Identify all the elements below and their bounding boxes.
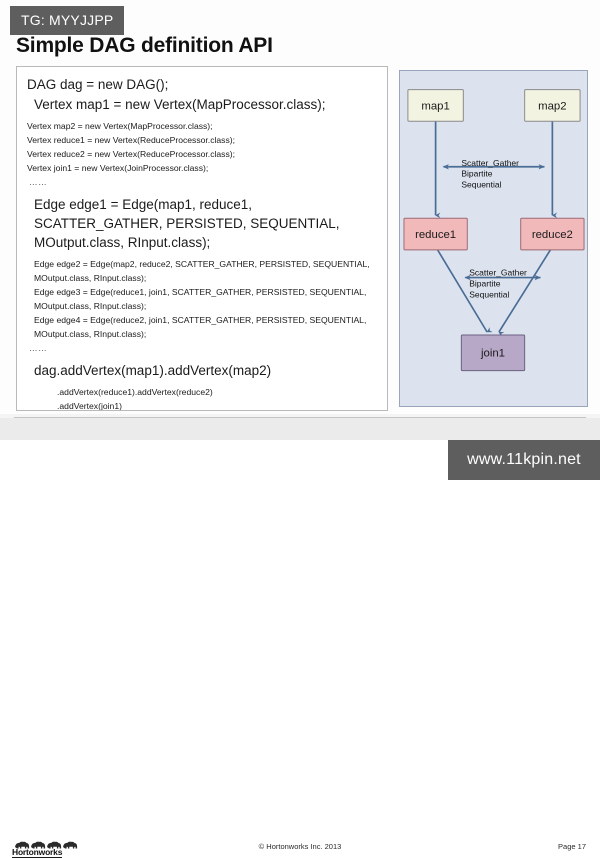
slide-footer: Hortonworks © Hortonworks Inc. 2013 Page… bbox=[0, 418, 600, 440]
edge-annotation-bottom: Scatter_Gather Bipartite Sequential bbox=[469, 268, 527, 300]
dag-node-reduce2[interactable]: reduce2 bbox=[521, 218, 584, 250]
code-panel: DAG dag = new DAG(); Vertex map1 = new V… bbox=[16, 66, 388, 411]
code-panel-body: DAG dag = new DAG(); Vertex map1 = new V… bbox=[17, 67, 387, 411]
code-line: Edge edge4 = Edge(reduce2, join1, SCATTE… bbox=[27, 314, 381, 342]
code-line: Vertex map1 = new Vertex(MapProcessor.cl… bbox=[27, 95, 381, 114]
dag-node-label: reduce2 bbox=[532, 229, 573, 241]
code-line: dag.addVertex(map1).addVertex(map2) bbox=[27, 361, 381, 380]
slide-surface: Simple DAG definition API DAG dag = new … bbox=[0, 0, 600, 440]
code-ellipsis: …… bbox=[27, 176, 381, 190]
edge-annotation-line: Sequential bbox=[461, 180, 501, 190]
page-number: Page 17 bbox=[558, 842, 586, 851]
code-line: Vertex reduce2 = new Vertex(ReduceProces… bbox=[27, 148, 381, 162]
dag-node-map1[interactable]: map1 bbox=[408, 90, 463, 122]
edge-annotation-line: Bipartite bbox=[469, 278, 500, 288]
code-line: Vertex join1 = new Vertex(JoinProcessor.… bbox=[27, 162, 381, 176]
copyright-text: © Hortonworks Inc. 2013 bbox=[0, 842, 600, 851]
code-line: .addVertex(reduce1).addVertex(reduce2) bbox=[27, 386, 381, 400]
code-line: .addVertex(join1) bbox=[27, 400, 381, 411]
dag-node-reduce1[interactable]: reduce1 bbox=[404, 218, 467, 250]
dag-node-label: join1 bbox=[480, 348, 505, 360]
dag-node-label: map2 bbox=[538, 100, 566, 112]
dag-node-label: map1 bbox=[421, 100, 449, 112]
code-line: Edge edge3 = Edge(reduce1, join1, SCATTE… bbox=[27, 286, 381, 314]
dag-diagram-svg: map1 map2 reduce1 reduce2 join1 bbox=[400, 71, 587, 406]
edge-annotation-line: Scatter_Gather bbox=[469, 268, 527, 278]
edge-annotation-top: Scatter_Gather Bipartite Sequential bbox=[461, 158, 519, 190]
watermark-url: www.11kpin.net bbox=[448, 440, 600, 480]
code-line: Vertex reduce1 = new Vertex(ReduceProces… bbox=[27, 134, 381, 148]
dag-node-join1[interactable]: join1 bbox=[461, 335, 524, 371]
code-ellipsis: …… bbox=[27, 342, 381, 356]
tg-badge: TG: MYYJJPP bbox=[10, 6, 124, 35]
code-line: Edge edge1 = Edge(map1, reduce1, SCATTER… bbox=[27, 195, 381, 252]
dag-diagram-panel: map1 map2 reduce1 reduce2 join1 bbox=[399, 70, 588, 407]
code-line: Vertex map2 = new Vertex(MapProcessor.cl… bbox=[27, 120, 381, 134]
dag-node-map2[interactable]: map2 bbox=[525, 90, 580, 122]
edge-annotation-line: Bipartite bbox=[461, 169, 492, 179]
edge-annotation-line: Sequential bbox=[469, 289, 509, 299]
page-title: Simple DAG definition API bbox=[16, 34, 273, 58]
code-line: DAG dag = new DAG(); bbox=[27, 75, 381, 94]
edge-annotation-line: Scatter_Gather bbox=[461, 158, 519, 168]
code-line: Edge edge2 = Edge(map2, reduce2, SCATTER… bbox=[27, 258, 381, 286]
dag-node-label: reduce1 bbox=[415, 229, 456, 241]
